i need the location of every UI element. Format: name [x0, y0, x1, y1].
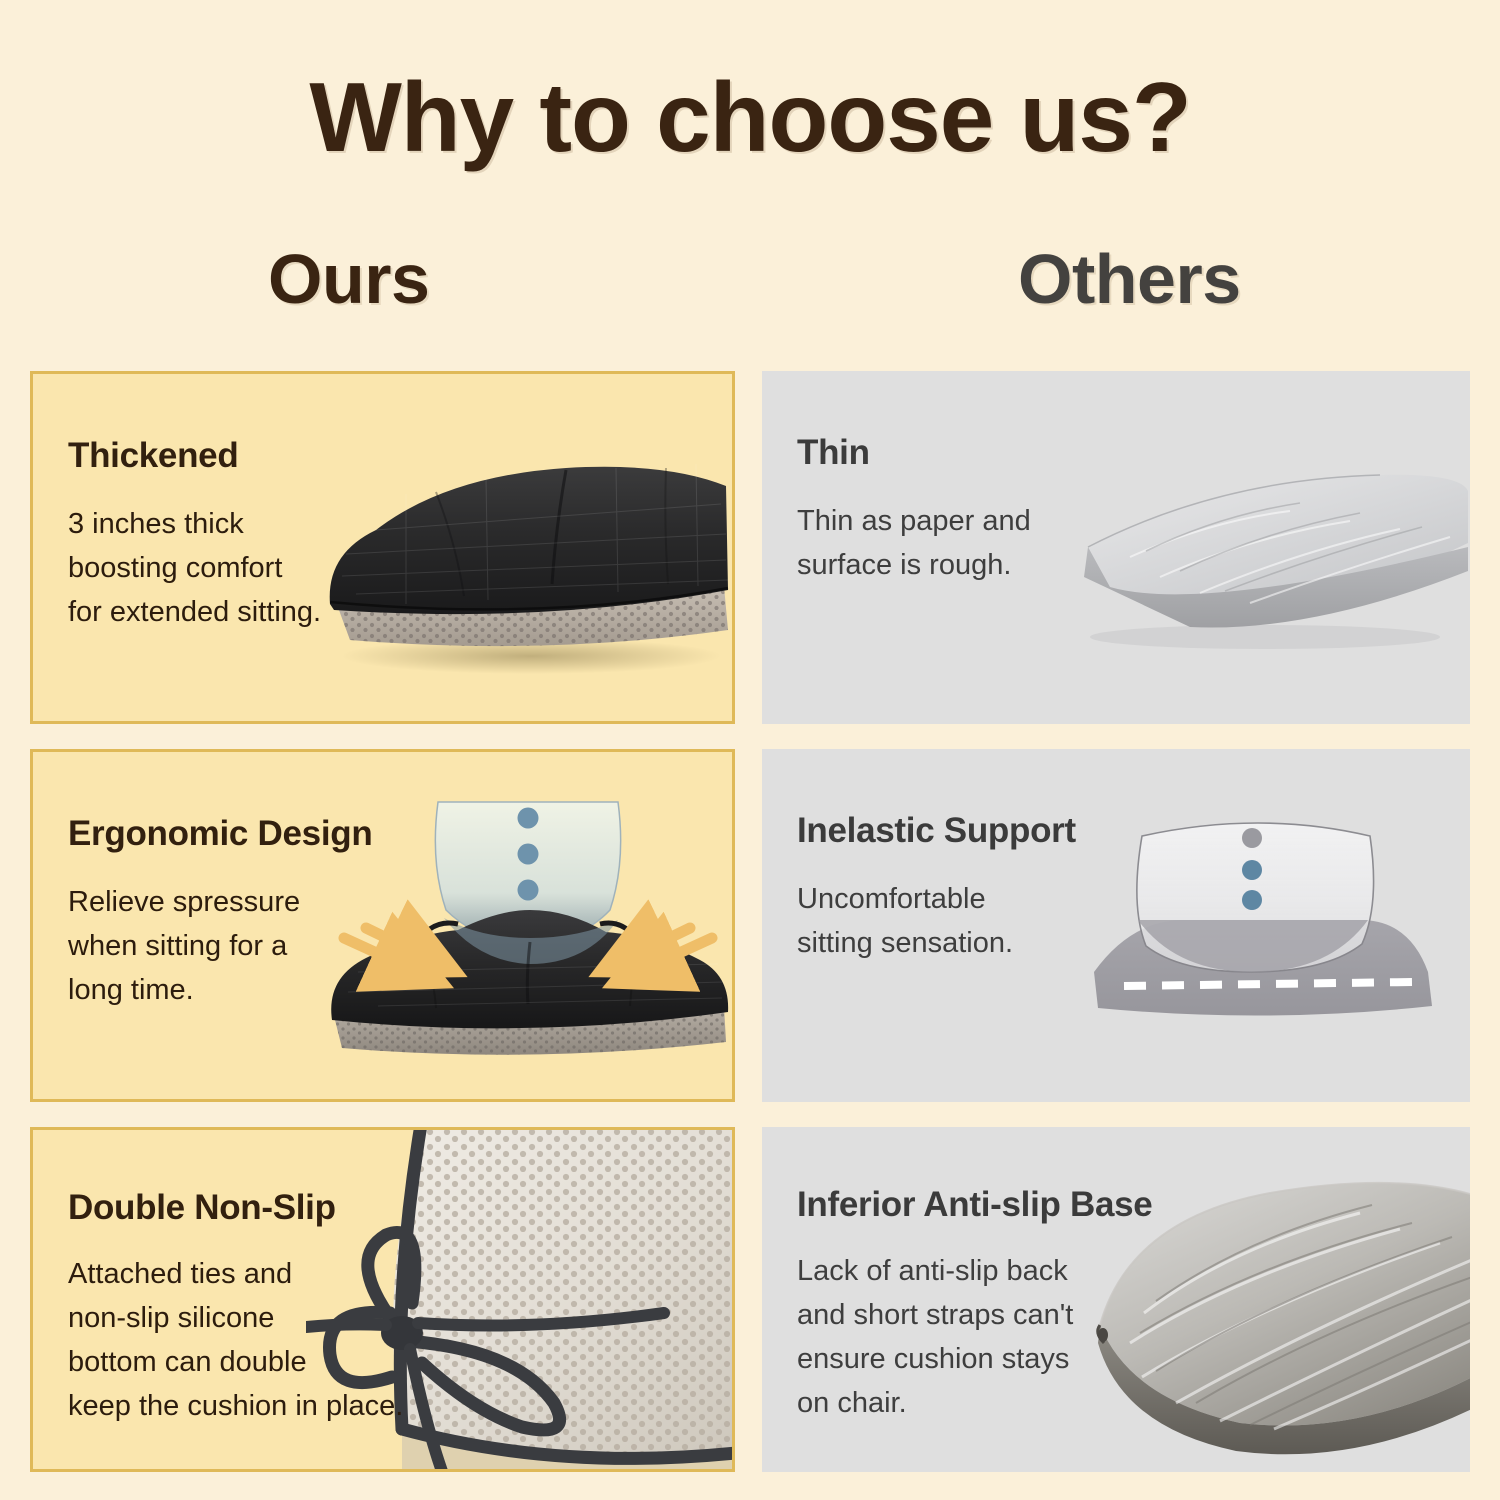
inelastic-cushion-diagram — [1080, 794, 1460, 1064]
page-title: Why to choose us? — [0, 66, 1500, 169]
tie-tail-right — [418, 1313, 664, 1325]
card-ours-thickened: Thickened 3 inches thick boosting comfor… — [30, 371, 735, 724]
card-body: Lack of anti-slip back and short straps … — [797, 1249, 1073, 1425]
card-body: Uncomfortable sitting sensation. — [797, 877, 1013, 965]
tie-tail-down — [410, 1349, 444, 1472]
card-others-thin: Thin Thin as paper and surface is rough. — [762, 371, 1470, 724]
pressure-dot — [1242, 828, 1262, 848]
ergonomic-cushion-diagram — [318, 792, 735, 1082]
tie-loop-right — [406, 1341, 560, 1430]
card-title: Thin — [797, 433, 870, 473]
card-ours-ergonomic: Ergonomic Design Relieve spressure when … — [30, 749, 735, 1102]
pressure-dot — [518, 844, 539, 865]
pressure-arrow-right — [628, 928, 712, 970]
card-ours-double-non-slip: Double Non-Slip Attached ties and non-sl… — [30, 1127, 735, 1472]
card-others-inelastic: Inelastic Support Uncomfortable sitting … — [762, 749, 1470, 1102]
pressure-arrow-left — [344, 928, 428, 970]
column-header-ours: Ours — [268, 244, 429, 314]
thin-pad-photo — [1050, 451, 1470, 671]
pressure-dot — [518, 808, 539, 829]
column-header-others: Others — [1018, 244, 1241, 314]
pressure-dot — [1242, 890, 1262, 910]
card-others-inferior-base: Inferior Anti-slip Base Lack of anti-sli… — [762, 1127, 1470, 1472]
dashed-seam-line — [1124, 982, 1412, 986]
card-title: Thickened — [68, 436, 238, 476]
card-title: Inelastic Support — [797, 811, 1076, 851]
comparison-infographic: Why to choose us? Ours Others Thickened … — [0, 0, 1500, 1500]
pressure-dot — [518, 880, 539, 901]
card-body: Attached ties and non-slip silicone bott… — [68, 1252, 403, 1428]
thick-cushion-photo — [316, 434, 735, 684]
pressure-dot — [1242, 860, 1262, 880]
card-body: Thin as paper and surface is rough. — [797, 499, 1031, 587]
card-body: Relieve spressure when sitting for a lon… — [68, 880, 300, 1012]
card-body: 3 inches thick boosting comfort for exte… — [68, 502, 321, 634]
card-title: Ergonomic Design — [68, 814, 372, 854]
card-title: Double Non-Slip — [68, 1188, 336, 1228]
card-title: Inferior Anti-slip Base — [797, 1185, 1152, 1225]
